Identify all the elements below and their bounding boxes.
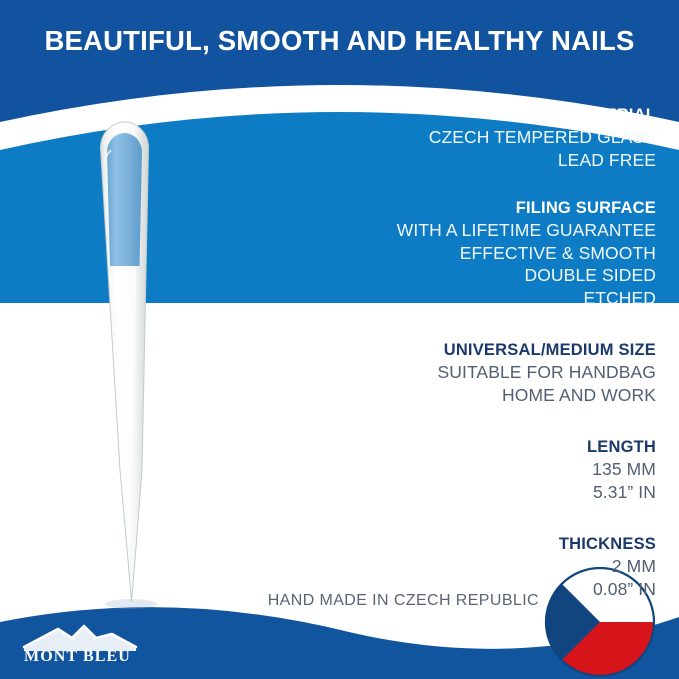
page-title: BEAUTIFUL, SMOOTH AND HEALTHY NAILS (0, 26, 679, 56)
spec-heading-thickness: THICKNESS (236, 533, 656, 555)
spec-line-filing-surface-3: ETCHED (236, 287, 656, 310)
spec-block-filing-surface: FILING SURFACE WITH A LIFETIME GUARANTEE… (236, 197, 656, 309)
spec-block-size: UNIVERSAL/MEDIUM SIZE SUITABLE FOR HANDB… (236, 339, 656, 406)
spec-line-material-1: LEAD FREE (236, 149, 656, 172)
spacer (236, 503, 656, 533)
file-etched-surface (107, 133, 142, 266)
spec-line-filing-surface-1: EFFECTIVE & SMOOTH (236, 242, 656, 265)
spacer (236, 406, 656, 436)
spec-heading-filing-surface: FILING SURFACE (236, 197, 656, 219)
spec-block-length: LENGTH 135 MM 5.31” IN (236, 436, 656, 503)
brand-name: MONT BLEU (24, 648, 131, 666)
handmade-origin-text: HAND MADE IN CZECH REPUBLIC (0, 592, 539, 610)
spacer (236, 171, 656, 197)
spec-line-length-0: 135 MM (236, 458, 656, 481)
spec-line-size-0: SUITABLE FOR HANDBAG (236, 361, 656, 384)
spec-line-filing-surface-2: DOUBLE SIDED (236, 264, 656, 287)
mont-bleu-logo: MONT BLEU (14, 622, 174, 672)
spec-heading-length: LENGTH (236, 436, 656, 458)
spec-line-size-1: HOME AND WORK (236, 384, 656, 407)
specifications-list: MATERIAL CZECH TEMPERED GLASS LEAD FREE … (236, 104, 656, 600)
spec-line-filing-surface-0: WITH A LIFETIME GUARANTEE (236, 219, 656, 242)
spec-line-thickness-0: 2 MM (236, 555, 656, 578)
spec-heading-material: MATERIAL (236, 104, 656, 126)
spacer (236, 309, 656, 339)
spec-line-length-1: 5.31” IN (236, 481, 656, 504)
spec-block-thickness: THICKNESS 2 MM 0.08” IN (236, 533, 656, 600)
spec-block-material: MATERIAL CZECH TEMPERED GLASS LEAD FREE (236, 104, 656, 171)
spec-line-material-0: CZECH TEMPERED GLASS (236, 126, 656, 149)
spec-heading-size: UNIVERSAL/MEDIUM SIZE (236, 339, 656, 361)
product-infographic: BEAUTIFUL, SMOOTH AND HEALTHY NAILS MATE… (0, 0, 679, 679)
